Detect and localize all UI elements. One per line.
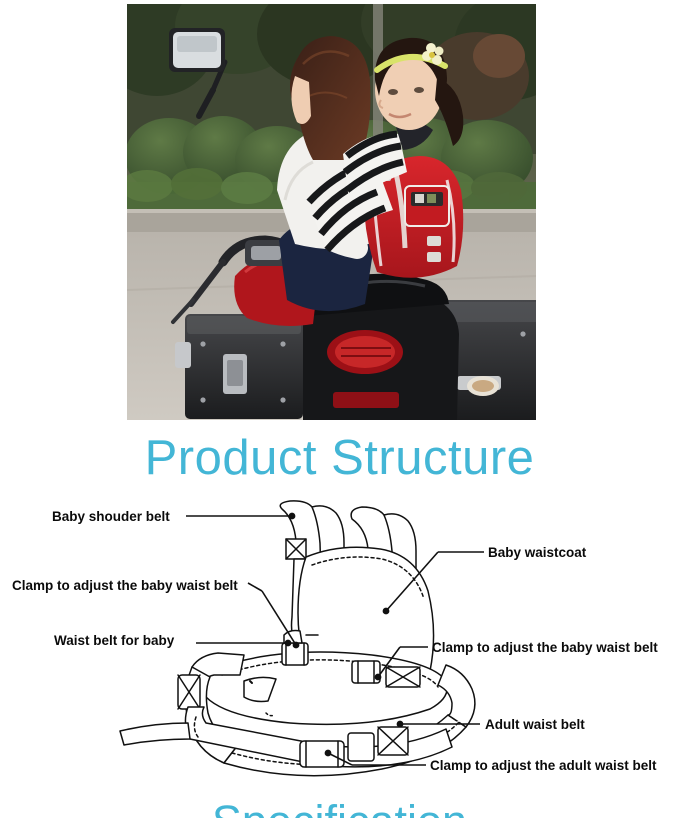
callout-baby-waistcoat: Baby waistcoat (488, 545, 586, 561)
callout-baby-shoulder-belt: Baby shouder belt (52, 509, 170, 525)
callout-clamp-adult-waist: Clamp to adjust the adult waist belt (430, 758, 657, 774)
product-hero-photo (127, 4, 536, 420)
next-section-title-text: Specification (0, 795, 679, 818)
callout-clamp-baby-waist-left: Clamp to adjust the baby waist belt (12, 578, 238, 594)
callout-clamp-baby-waist-right: Clamp to adjust the baby waist belt (432, 640, 658, 656)
page-title: Product Structure (0, 428, 679, 488)
callout-adult-waist-belt: Adult waist belt (485, 717, 585, 733)
product-structure-diagram: Baby shouder belt Clamp to adjust the ba… (0, 495, 679, 790)
callout-waist-belt-for-baby: Waist belt for baby (54, 633, 174, 649)
hero-photo-illustration (127, 4, 536, 420)
next-section-title: Specification (0, 795, 679, 818)
left-pannier (175, 314, 303, 419)
